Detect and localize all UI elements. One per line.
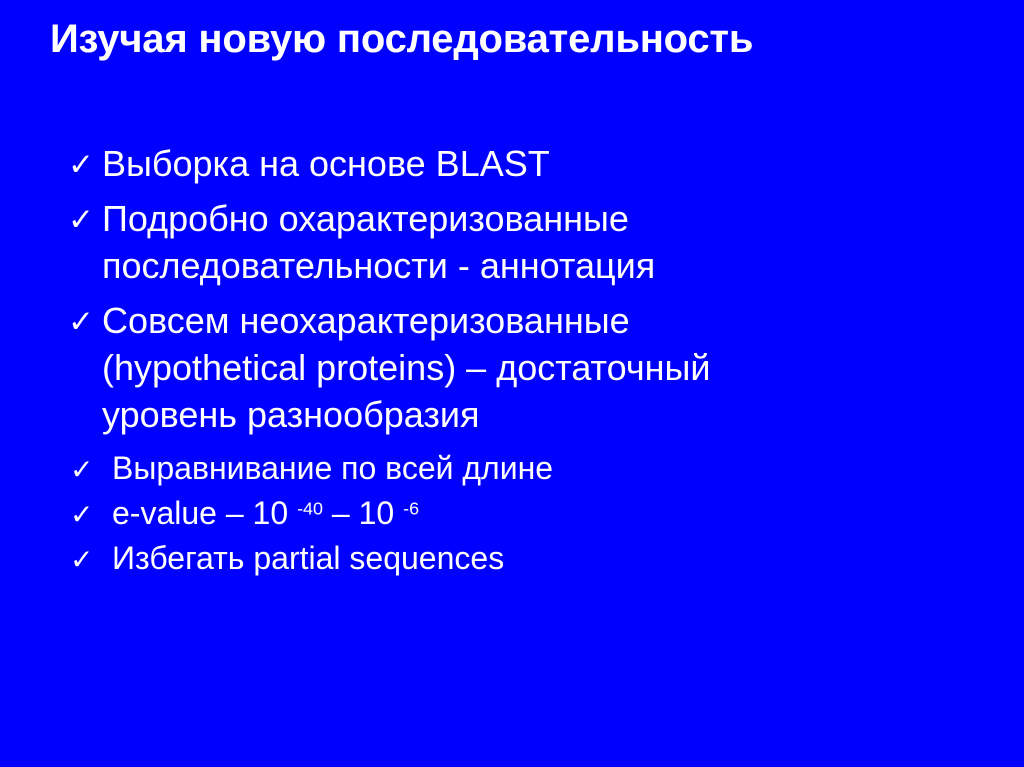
checkmark-icon: ✓ [68,298,94,345]
list-item-well-characterized: ✓ Подробно охарактеризованные последоват… [68,195,998,289]
list-item-line: уровень разнообразия [102,391,998,438]
e-value-exponent-high: -6 [403,499,419,519]
checkmark-icon: ✓ [70,538,93,582]
list-item-avoid-partial: ✓ Избегать partial sequences [68,536,998,580]
list-item-line: Совсем неохарактеризованные [102,297,998,344]
list-item-line: e-value – 10-40– 10-6 [112,491,998,535]
list-item-text: Избегать partial sequences [112,536,998,580]
list-item-e-value-range: ✓ e-value – 10-40– 10-6 [68,491,998,535]
list-item-line: Избегать partial sequences [112,536,998,580]
bullet-list: ✓ Выборка на основе BLAST ✓ Подробно оха… [68,140,998,581]
list-item-line: (hypothetical proteins) – достаточный [102,344,998,391]
list-item-line: Подробно охарактеризованные [102,195,998,242]
list-item-line: Выборка на основе BLAST [102,140,998,187]
list-item-blast-selection: ✓ Выборка на основе BLAST [68,140,998,187]
e-value-middle: – 10 [332,495,394,531]
list-item-text: Подробно охарактеризованные последовател… [102,195,998,289]
checkmark-icon: ✓ [68,196,94,243]
list-item-text: Выравнивание по всей длине [112,446,998,490]
checkmark-icon: ✓ [68,141,94,188]
e-value-prefix: e-value – 10 [112,495,288,531]
list-item-line: Выравнивание по всей длине [112,446,998,490]
page-title: Изучая новую последовательность [50,14,990,64]
list-item-full-length-alignment: ✓ Выравнивание по всей длине [68,446,998,490]
list-item-line: последовательности - аннотация [102,242,998,289]
slide-canvas: Изучая новую последовательность ✓ Выборк… [0,0,1024,767]
list-item-text: Совсем неохарактеризованные (hypothetica… [102,297,998,438]
checkmark-icon: ✓ [70,493,93,537]
list-item-text: Выборка на основе BLAST [102,140,998,187]
list-item-uncharacterized: ✓ Совсем неохарактеризованные (hypotheti… [68,297,998,438]
list-item-text: e-value – 10-40– 10-6 [112,491,998,535]
e-value-exponent-low: -40 [297,499,323,519]
checkmark-icon: ✓ [70,448,93,492]
